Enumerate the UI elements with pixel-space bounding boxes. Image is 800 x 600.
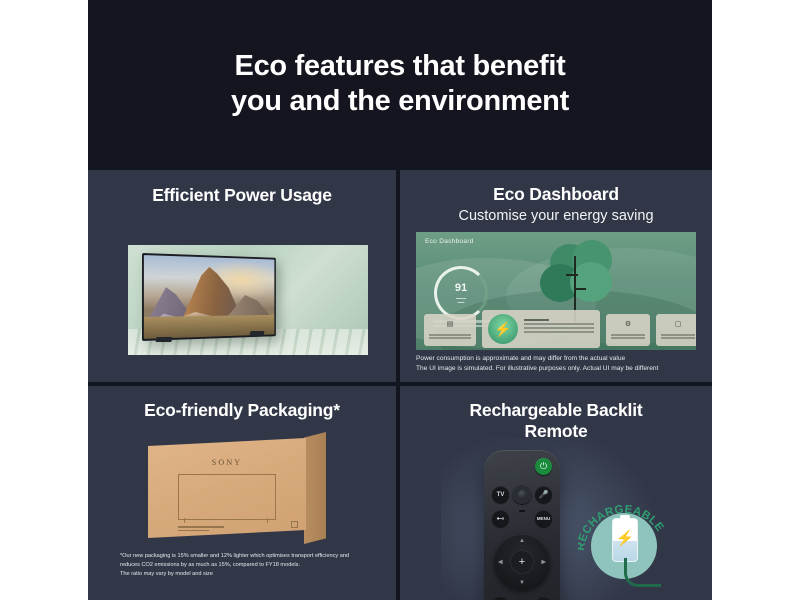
packaging-footnote: *Our new packaging is 15% smaller and 12… <box>120 552 370 580</box>
gauge-caption: ▬▬▬▬▬ <box>456 296 466 304</box>
box-tv-legs-outline <box>178 518 274 523</box>
card-eco-fit-setup[interactable]: ▤ <box>424 314 476 346</box>
footnote-line-3: The ratio may vary by model and size <box>120 570 370 579</box>
hands-leaf-icon: ⚡ <box>488 314 518 344</box>
tv-button[interactable]: TV <box>492 486 509 503</box>
ok-button[interactable]: + <box>510 550 534 574</box>
seat-icon: ▤ <box>447 320 454 328</box>
box-front-panel: SONY <box>148 438 306 538</box>
hero-line-2: you and the environment <box>231 84 569 119</box>
tv-stand-left <box>155 337 172 342</box>
gauge-value: 91 <box>455 283 467 294</box>
power-button[interactable]: ⏻ <box>535 458 552 475</box>
text-line <box>524 327 594 329</box>
badge-text-path: RECHARGEABLE <box>578 504 666 552</box>
assistant-button[interactable]: 🎤 <box>535 486 552 503</box>
text-line <box>429 334 471 336</box>
input-select-button[interactable]: ⊷ <box>492 510 509 527</box>
dashboard-mock-label: Eco Dashboard <box>425 238 474 245</box>
text-line <box>524 319 549 321</box>
remote-control-device: ⏻ TV 🎤 ⊷ MENU ▲ ▼ ◀ ▶ + ↩ ⌂ − N + <box>484 450 560 600</box>
tree-canopy-4 <box>570 262 612 302</box>
efficient-power-title: Efficient Power Usage <box>88 170 396 206</box>
disclaimer-line-2: The UI image is simulated. For illustrat… <box>416 364 706 374</box>
mountain-peak-center <box>183 266 240 316</box>
status-led <box>519 510 525 512</box>
home-button[interactable]: ⌂ <box>535 596 552 600</box>
footnote-line-1: *Our new packaging is 15% smaller and 12… <box>120 552 370 561</box>
packaging-box-photo: SONY <box>148 432 348 542</box>
badge-curved-text: RECHARGEABLE <box>578 500 670 592</box>
eco-dashboard-title: Eco Dashboard <box>400 170 712 205</box>
display-icon: ▢ <box>675 320 682 328</box>
badge-text-content: RECHARGEABLE <box>578 504 666 552</box>
page-title: Eco features that benefit you and the en… <box>231 49 569 120</box>
eco-dashboard-disclaimer: Power consumption is approximate and may… <box>416 354 706 374</box>
dashboard-setting-cards: ▤ ⚡ <box>424 310 688 346</box>
panel-rechargeable-backlit-remote[interactable]: Rechargeable Backlit Remote ⏻ TV 🎤 ⊷ MEN… <box>400 386 712 600</box>
panel-eco-friendly-packaging[interactable]: Eco-friendly Packaging* SONY *Our new pa… <box>88 386 396 600</box>
card-label <box>429 332 471 341</box>
eco-dashboard-ui-mockup: Eco Dashboard 91 ▬▬▬▬▬ <box>416 232 696 350</box>
panel-efficient-power-usage[interactable]: Efficient Power Usage <box>88 170 396 382</box>
packaging-title: Eco-friendly Packaging* <box>88 386 396 421</box>
text-line <box>611 337 645 339</box>
gear-icon: ⚙ <box>625 320 631 328</box>
card-power-saving-text <box>524 317 594 335</box>
hero-line-1: Eco features that benefit <box>231 49 569 84</box>
tv-stand-right <box>249 331 264 336</box>
rechargeable-badge: ⚡ RECHARGEABLE <box>578 500 670 592</box>
tree-branch-1 <box>566 274 578 276</box>
text-line <box>661 337 695 339</box>
box-spec-text <box>178 524 282 533</box>
box-tv-outline <box>178 474 276 520</box>
tree-branch-2 <box>574 288 586 290</box>
card-power-saving[interactable]: ⚡ <box>482 310 600 348</box>
eco-dashboard-subtitle: Customise your energy saving <box>400 208 712 224</box>
card-ambient-light[interactable]: ⚙ <box>606 314 650 346</box>
card-label <box>661 332 695 341</box>
microphone-button[interactable] <box>512 484 532 504</box>
text-line <box>178 526 224 528</box>
arrow-down-icon[interactable]: ▼ <box>519 580 525 586</box>
box-recycle-mark <box>291 521 298 528</box>
tv-screen-landscape-image <box>144 255 274 339</box>
sony-logo: SONY <box>212 458 243 467</box>
card-screen-off[interactable]: ▢ <box>656 314 696 346</box>
card-label <box>611 332 645 341</box>
arrow-up-icon[interactable]: ▲ <box>519 538 525 544</box>
menu-button[interactable]: MENU <box>535 510 552 527</box>
arrow-left-icon[interactable]: ◀ <box>498 559 503 566</box>
text-line <box>661 334 695 336</box>
box-side-panel <box>304 432 326 544</box>
text-line <box>178 530 209 532</box>
screenshot-stage: Eco features that benefit you and the en… <box>0 0 800 600</box>
back-button[interactable]: ↩ <box>492 596 509 600</box>
eco-features-board: Eco features that benefit you and the en… <box>88 0 712 600</box>
text-line <box>524 323 594 325</box>
mountain-peak-left <box>150 284 192 317</box>
disclaimer-line-1: Power consumption is approximate and may… <box>416 354 706 364</box>
footnote-line-2: reduces CO2 emissions by as much as 15%,… <box>120 561 370 570</box>
tv-product-photo <box>128 245 368 355</box>
directional-pad[interactable]: ▲ ▼ ◀ ▶ + <box>494 534 550 590</box>
text-line <box>524 331 594 333</box>
text-line <box>611 334 645 336</box>
tv-body <box>142 253 276 341</box>
text-line <box>429 337 471 339</box>
mic-dot-icon <box>518 490 527 499</box>
panel-eco-dashboard[interactable]: Eco Dashboard Customise your energy savi… <box>400 170 712 382</box>
hero-header: Eco features that benefit you and the en… <box>88 0 712 168</box>
remote-title-line-1: Rechargeable Backlit <box>469 400 642 420</box>
remote-title: Rechargeable Backlit Remote <box>400 386 712 441</box>
arrow-right-icon[interactable]: ▶ <box>541 559 546 566</box>
